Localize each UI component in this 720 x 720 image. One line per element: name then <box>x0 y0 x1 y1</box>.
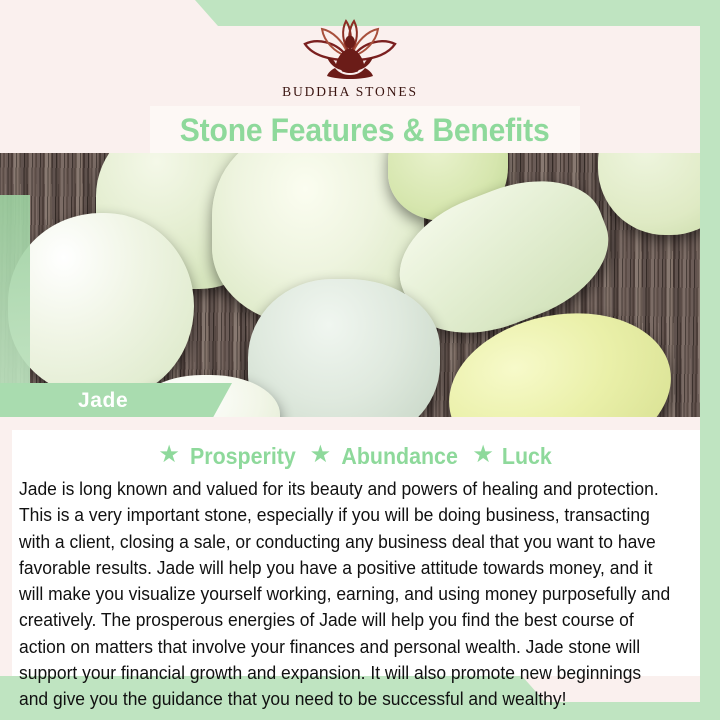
stone-features-poster: BUDDHA STONES Stone Features & Benefits … <box>0 0 720 720</box>
hero-image <box>0 153 700 417</box>
star-icon: ★ <box>158 443 180 467</box>
jade-stone <box>248 279 440 417</box>
benefit-label: Luck <box>502 445 552 468</box>
page-title: Stone Features & Benefits <box>180 114 550 146</box>
brand-logo: BUDDHA STONES <box>0 16 700 100</box>
content-panel: ★ Prosperity ★ Abundance ★ Luck Jade is … <box>0 417 700 676</box>
benefits-row: ★ Prosperity ★ Abundance ★ Luck <box>12 444 700 468</box>
lotus-meditation-icon <box>291 16 409 82</box>
decor-band-right <box>700 0 720 720</box>
stone-name-label: Jade <box>78 389 128 413</box>
benefit-label: Prosperity <box>190 445 296 468</box>
benefit-item-abundance: ★ Abundance <box>310 444 463 468</box>
star-icon: ★ <box>472 443 494 467</box>
benefit-item-prosperity: ★ Prosperity <box>158 444 299 468</box>
star-icon: ★ <box>310 443 332 467</box>
benefit-label: Abundance <box>342 445 458 468</box>
content-card: ★ Prosperity ★ Abundance ★ Luck Jade is … <box>12 430 700 676</box>
stone-description: Jade is long known and valued for its be… <box>19 476 673 713</box>
title-plate: Stone Features & Benefits <box>150 106 580 153</box>
jade-stone <box>8 213 194 399</box>
benefit-item-luck: ★ Luck <box>472 444 553 468</box>
brand-name: BUDDHA STONES <box>282 84 418 100</box>
